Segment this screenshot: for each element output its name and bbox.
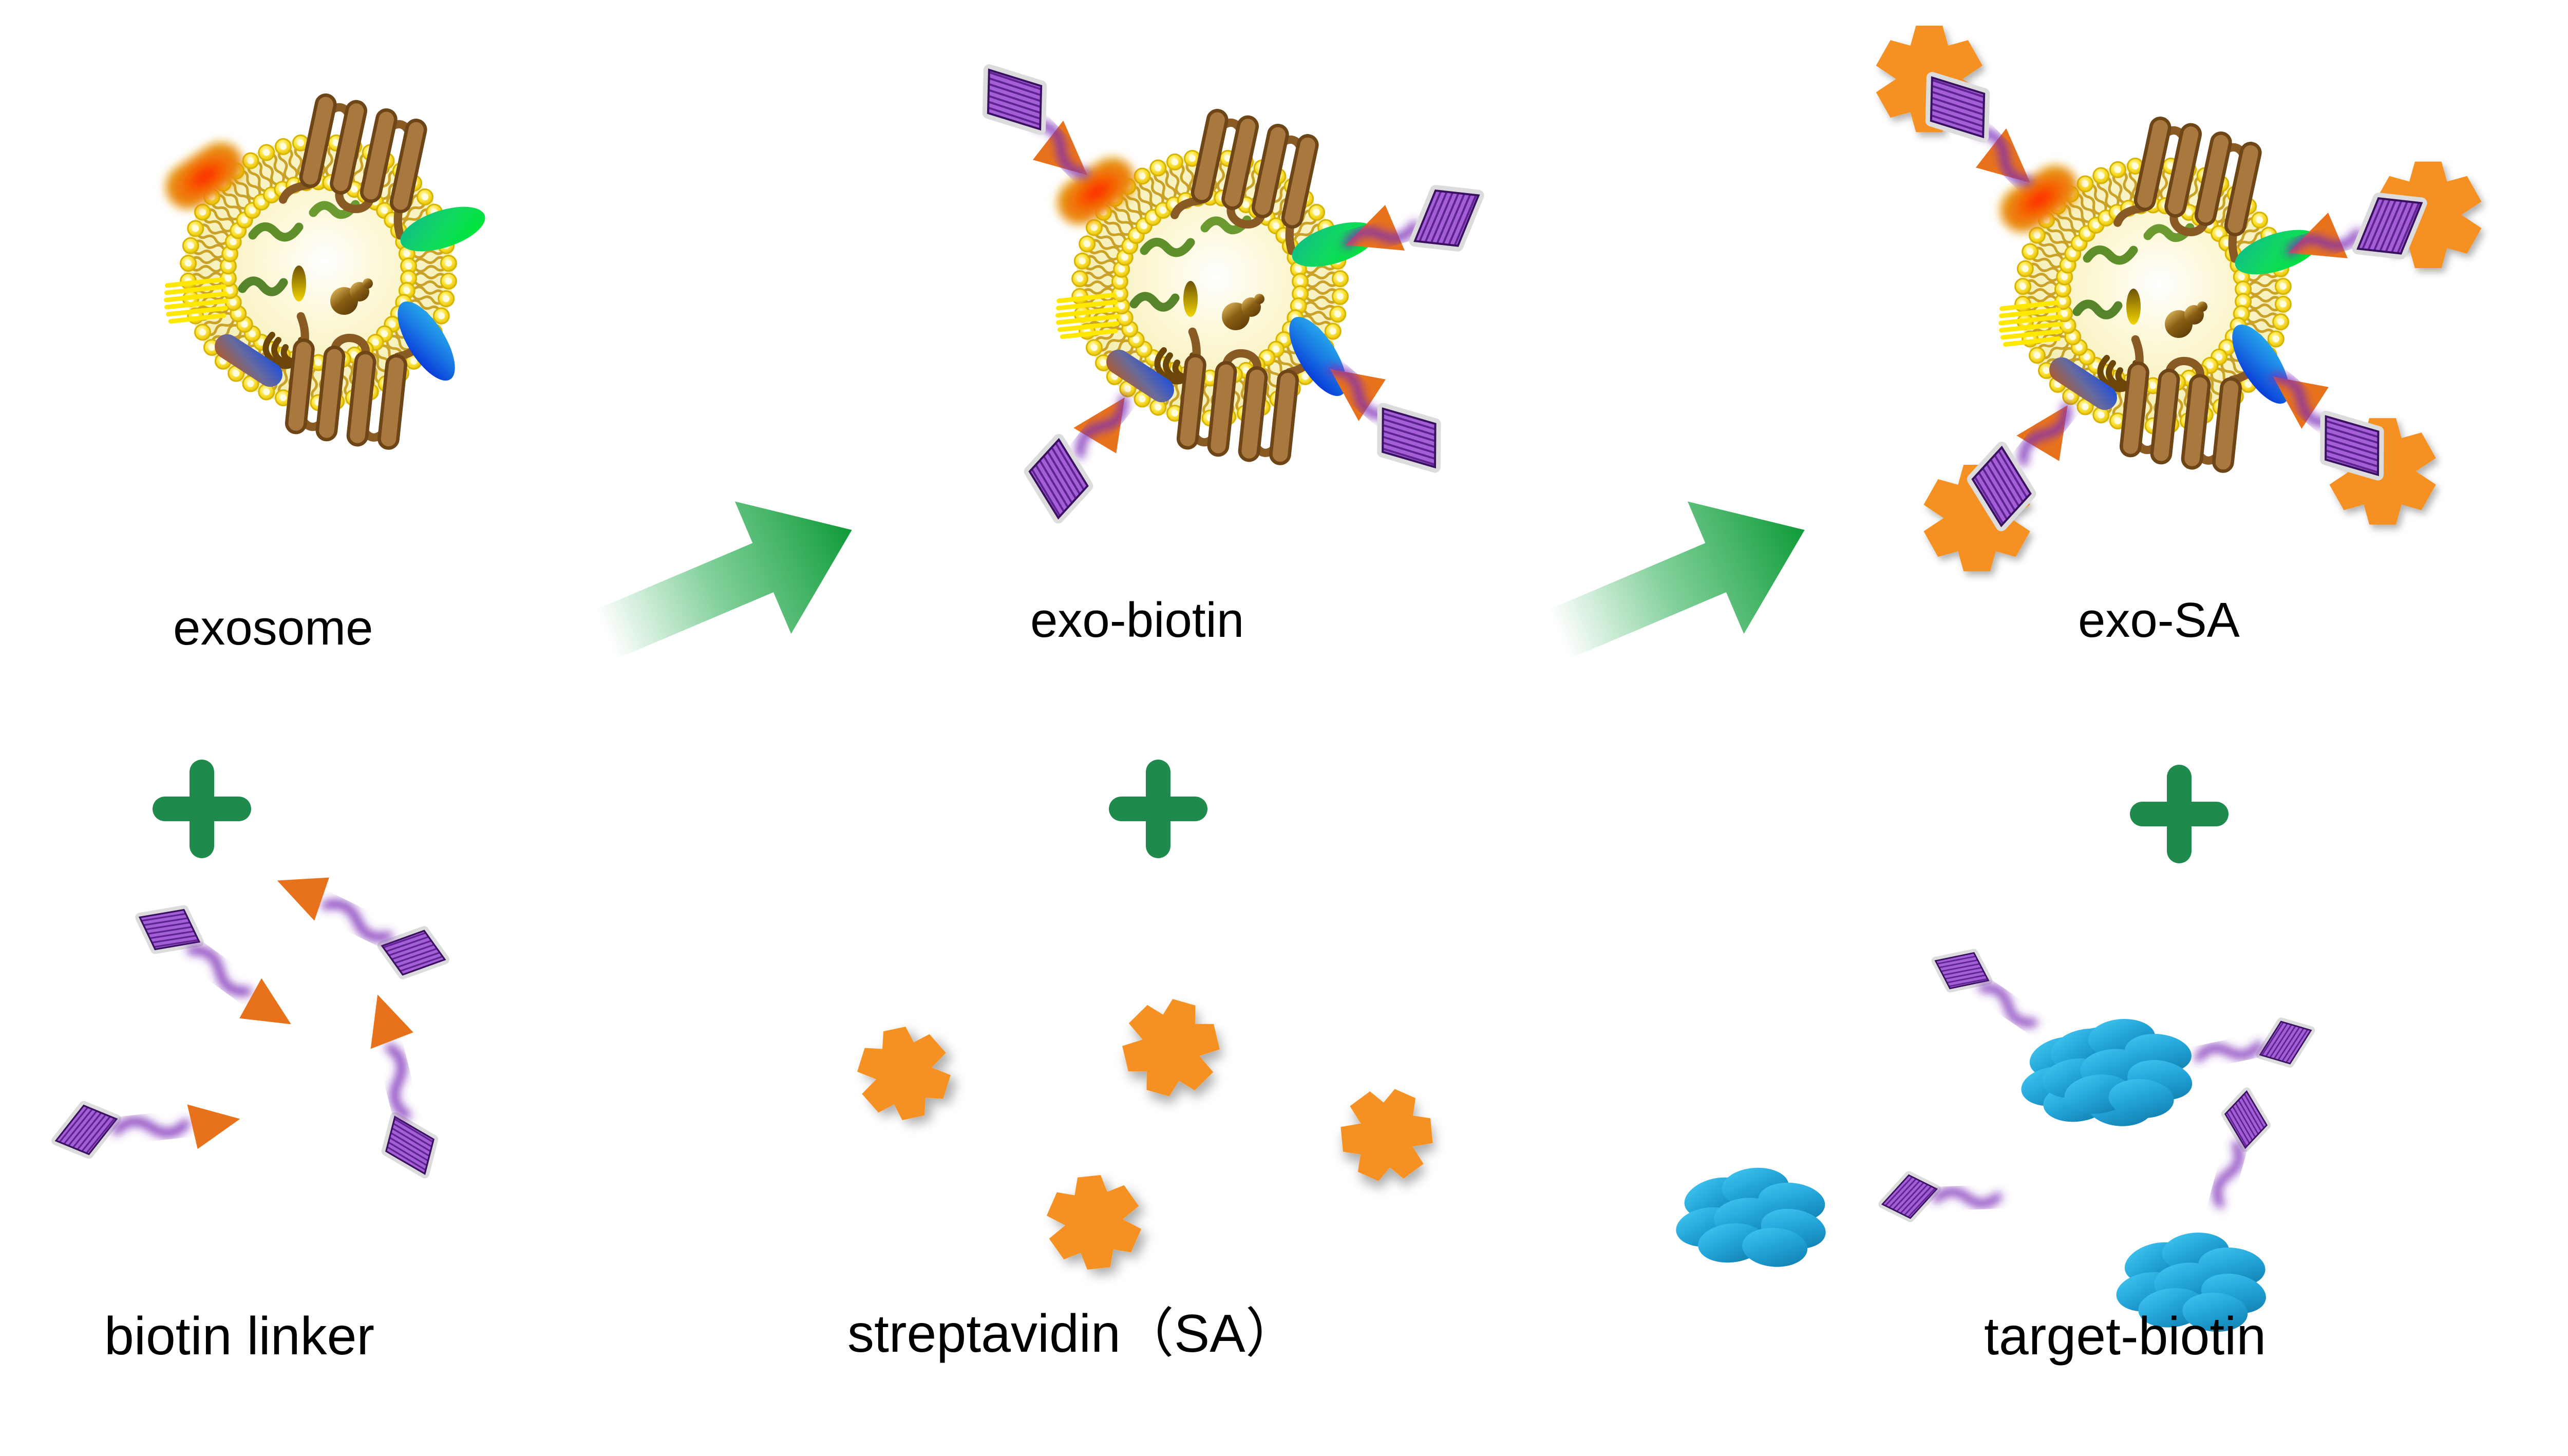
- free-target-biotin: [1670, 1154, 2000, 1274]
- free-streptavidin: [850, 1019, 958, 1127]
- plus-icon: [153, 760, 251, 858]
- diagram-svg: [0, 0, 2568, 1456]
- label-target-biotin: target-biotin: [1984, 1310, 2266, 1363]
- label-exosome: exosome: [173, 603, 373, 653]
- label-biotin-linker: biotin linker: [104, 1310, 374, 1363]
- label-streptavidin: streptavidin（SA）: [847, 1307, 1299, 1360]
- flow-arrow-1: [578, 464, 880, 701]
- free-biotin-linker: [349, 988, 447, 1181]
- free-biotin-linker: [126, 892, 309, 1045]
- reagent-streptavidin: [850, 760, 1446, 1273]
- free-target-biotin: [2019, 962, 2324, 1152]
- label-exo-biotin: exo-biotin: [1030, 596, 1244, 645]
- free-streptavidin: [1112, 989, 1230, 1106]
- flow-arrow-2: [1531, 464, 1833, 701]
- plus-icon: [2130, 765, 2229, 863]
- figure-canvas: exosome exo-biotin exo-SA exosome-target…: [0, 0, 2568, 1456]
- reagent-biotin-linker: [53, 760, 455, 1181]
- free-biotin-linker: [265, 858, 455, 988]
- plus-icon: [1109, 760, 1207, 858]
- bound-biotin-sa: [2271, 134, 2509, 318]
- free-streptavidin: [1327, 1075, 1446, 1195]
- free-biotin-linker: [53, 1089, 243, 1163]
- panel-exo-sa: [1823, 0, 2509, 623]
- panel-exo-biotin: [954, 39, 1496, 542]
- panel-exosome: [157, 91, 490, 450]
- free-streptavidin: [1043, 1171, 1145, 1273]
- label-exo-sa: exo-SA: [2078, 596, 2240, 645]
- reagent-target-biotin: [1670, 765, 2328, 1373]
